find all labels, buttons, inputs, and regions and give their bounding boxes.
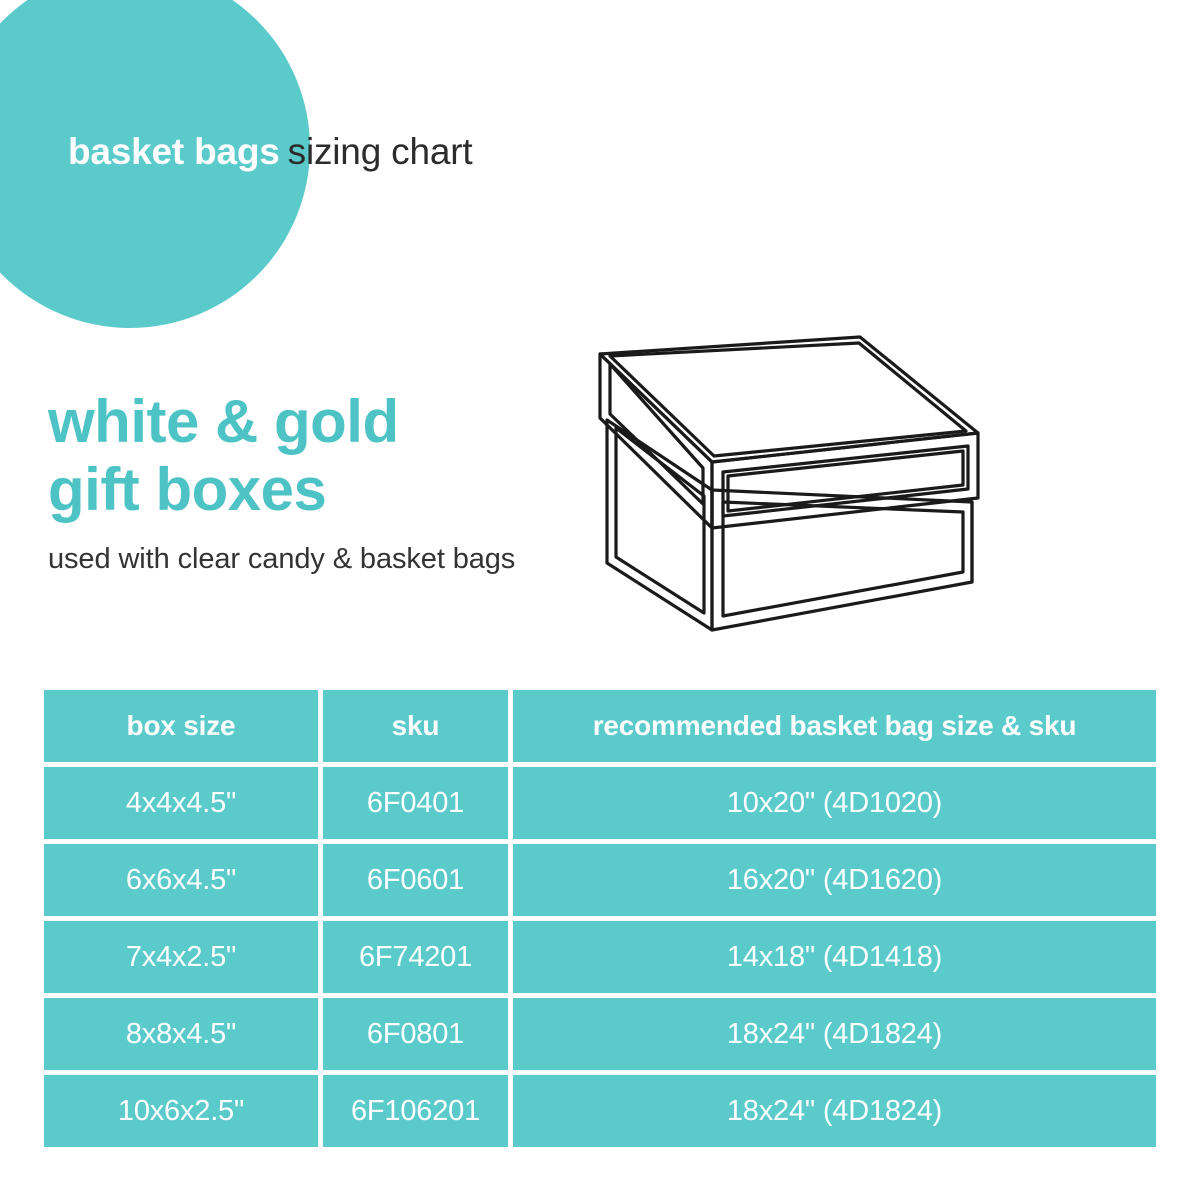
column-header-recommended: recommended basket bag size & sku: [513, 690, 1156, 762]
cell-box-size: 10x6x2.5": [44, 1075, 318, 1147]
product-heading-line-1: white & gold: [48, 388, 568, 456]
cell-sku: 6F0401: [323, 767, 508, 839]
table-row: 10x6x2.5" 6F106201 18x24" (4D1824): [44, 1075, 1156, 1147]
table-header-row: box size sku recommended basket bag size…: [44, 690, 1156, 762]
column-header-sku: sku: [323, 690, 508, 762]
cell-sku: 6F0801: [323, 998, 508, 1070]
table-row: 8x8x4.5" 6F0801 18x24" (4D1824): [44, 998, 1156, 1070]
cell-recommended: 18x24" (4D1824): [513, 998, 1156, 1070]
table-row: 7x4x2.5" 6F74201 14x18" (4D1418): [44, 921, 1156, 993]
page-title-bold: basket bags: [68, 131, 280, 173]
cell-recommended: 14x18" (4D1418): [513, 921, 1156, 993]
cell-sku: 6F0601: [323, 844, 508, 916]
cell-box-size: 4x4x4.5": [44, 767, 318, 839]
column-header-box-size: box size: [44, 690, 318, 762]
page-title-light: sizing chart: [288, 131, 473, 173]
product-heading: white & gold gift boxes: [48, 388, 568, 524]
cell-recommended: 16x20" (4D1620): [513, 844, 1156, 916]
product-heading-line-2: gift boxes: [48, 456, 568, 524]
cell-box-size: 6x6x4.5": [44, 844, 318, 916]
gift-box-illustration: [560, 250, 1020, 660]
cell-box-size: 8x8x4.5": [44, 998, 318, 1070]
sizing-chart-table: box size sku recommended basket bag size…: [44, 690, 1156, 1147]
table-row: 4x4x4.5" 6F0401 10x20" (4D1020): [44, 767, 1156, 839]
page-title: basket bags sizing chart: [68, 131, 472, 181]
cell-recommended: 10x20" (4D1020): [513, 767, 1156, 839]
cell-sku: 6F74201: [323, 921, 508, 993]
cell-box-size: 7x4x2.5": [44, 921, 318, 993]
gift-box-icon: [560, 250, 1020, 660]
product-subtitle: used with clear candy & basket bags: [48, 543, 515, 576]
cell-recommended: 18x24" (4D1824): [513, 1075, 1156, 1147]
table-row: 6x6x4.5" 6F0601 16x20" (4D1620): [44, 844, 1156, 916]
cell-sku: 6F106201: [323, 1075, 508, 1147]
